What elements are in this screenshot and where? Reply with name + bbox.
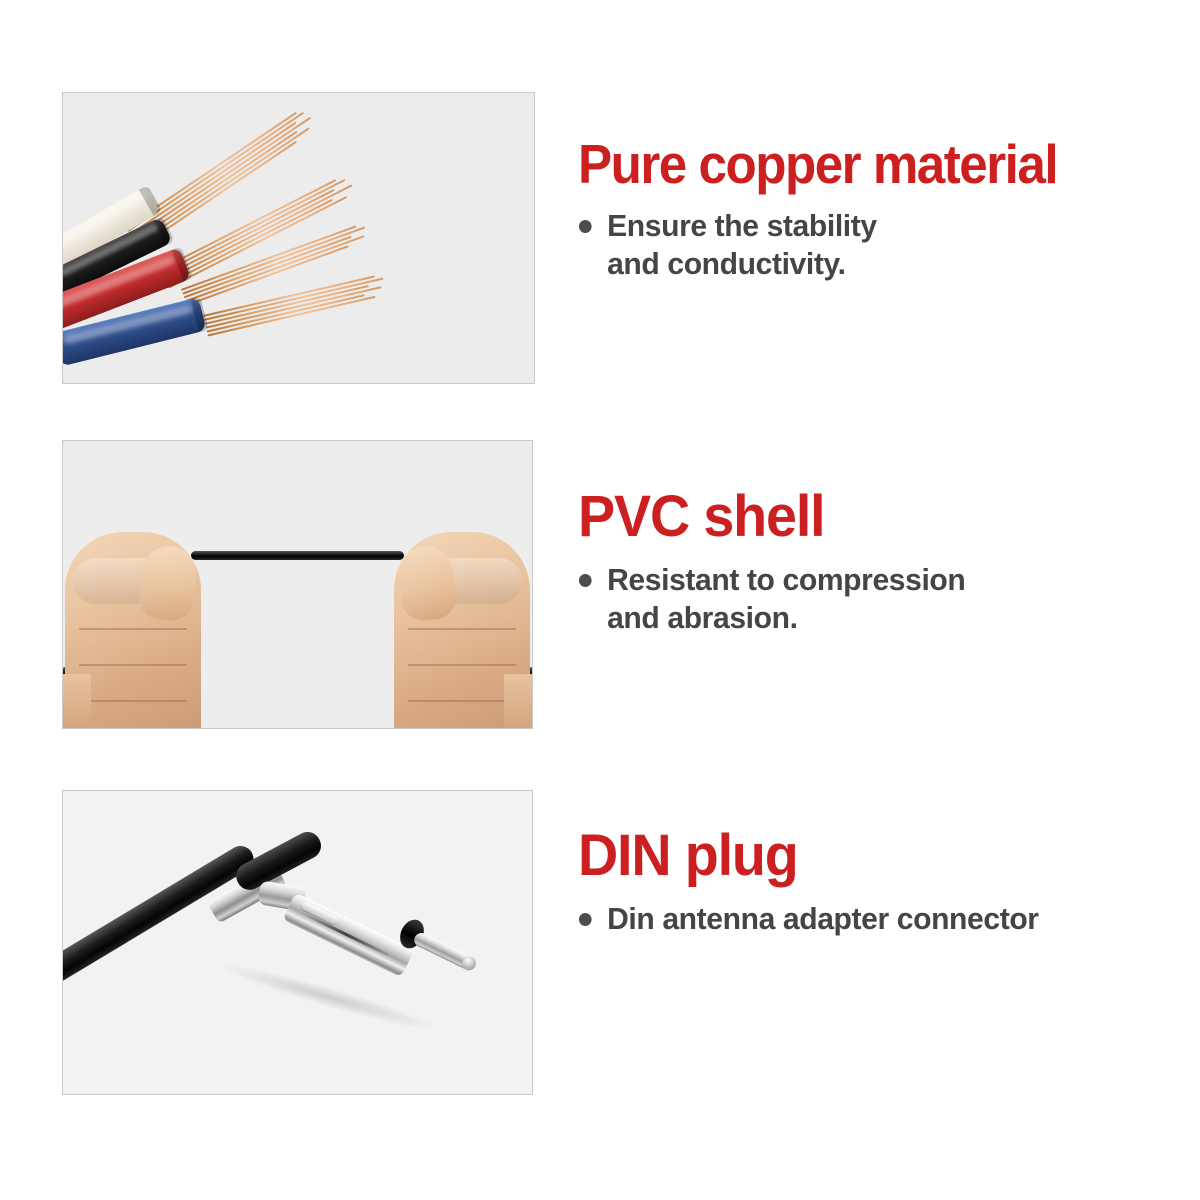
left-wrist bbox=[63, 674, 91, 728]
feature-bullets-din: Din antenna adapter connector bbox=[578, 900, 1190, 938]
feature-text-din: DIN plug Din antenna adapter connector bbox=[578, 826, 1190, 938]
feature-title-pvc: PVC shell bbox=[578, 487, 1166, 547]
feature-bullets-copper: Ensure the stability and conductivity. bbox=[578, 207, 1190, 283]
feature-bullets-pvc: Resistant to compression and abrasion. bbox=[578, 561, 1190, 637]
stretched-cable bbox=[191, 551, 404, 560]
right-wrist bbox=[504, 674, 532, 728]
copper-wire-photo bbox=[62, 92, 535, 384]
left-thumb bbox=[137, 543, 198, 622]
feature-text-copper: Pure copper material Ensure the stabilit… bbox=[578, 136, 1190, 283]
bullet-line: Ensure the stability bbox=[607, 207, 1172, 245]
feature-text-pvc: PVC shell Resistant to compression and a… bbox=[578, 487, 1190, 637]
right-thumb bbox=[396, 543, 457, 622]
bullet-item: Resistant to compression and abrasion. bbox=[578, 561, 1172, 637]
bullet-item: Din antenna adapter connector bbox=[578, 900, 1172, 938]
bullet-line: Din antenna adapter connector bbox=[607, 900, 1172, 938]
bullet-line: Resistant to compression bbox=[607, 561, 1172, 599]
feature-title-din: DIN plug bbox=[578, 826, 1166, 886]
hands-photo-inner bbox=[63, 441, 532, 728]
copper-wire-photo-inner bbox=[63, 93, 534, 383]
bullet-item: Ensure the stability and conductivity. bbox=[578, 207, 1172, 283]
bullet-line: and abrasion. bbox=[607, 599, 1172, 637]
din-plug-photo bbox=[62, 790, 533, 1095]
din-photo-inner bbox=[63, 791, 532, 1094]
bullet-line: and conductivity. bbox=[607, 245, 1172, 283]
hands-stretching-cable-photo bbox=[62, 440, 533, 729]
feature-title-copper: Pure copper material bbox=[578, 136, 1147, 193]
